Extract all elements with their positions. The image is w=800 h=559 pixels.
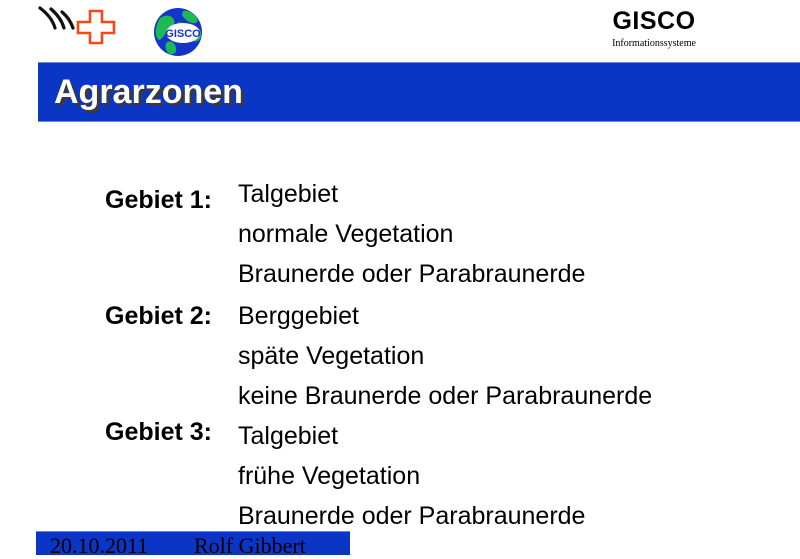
zone-lines: Berggebiet späte Vegetation keine Braune… [238,296,798,416]
zone-label: Gebiet 1: [0,184,212,216]
zone-line: Talgebiet [238,174,798,214]
zone-label: Gebiet 3: [0,416,212,448]
zone-line: frühe Vegetation [238,456,798,496]
motion-lines-icon [40,8,73,28]
zone-lines: Talgebiet normale Vegetation Braunerde o… [238,174,798,294]
zone-line: normale Vegetation [238,214,798,254]
first-aid-cross-icon [36,4,122,56]
zone-line: Berggebiet [238,296,798,336]
zone-line: Braunerde oder Parabraunerde [238,254,798,294]
brand-name: GISCO [564,8,744,35]
slide-content: Gebiet 1: Talgebiet normale Vegetation B… [0,122,800,527]
title-banner: Agrarzonen [38,62,800,122]
brand-subtitle: Informationssysteme [564,37,744,50]
zone-line: späte Vegetation [238,336,798,376]
page-title: Agrarzonen [54,71,243,113]
footer-date: 20.10.2011 [50,533,148,559]
brand-block: GISCO Informationssysteme [564,8,744,50]
globe-logo-label: GISCO [165,28,201,40]
header-strip: GISCO GISCO Informationssysteme [0,0,800,62]
zone-label: Gebiet 2: [0,300,212,332]
zone-line: Braunerde oder Parabraunerde [238,496,798,536]
zone-lines: Talgebiet frühe Vegetation Braunerde ode… [238,416,798,536]
globe-icon: GISCO [150,6,208,58]
footer-author: Rolf Gibbert [194,533,306,559]
zone-line: keine Braunerde oder Parabraunerde [238,376,798,416]
footer-bar: 20.10.2011 Rolf Gibbert [36,531,350,555]
zone-line: Talgebiet [238,416,798,456]
